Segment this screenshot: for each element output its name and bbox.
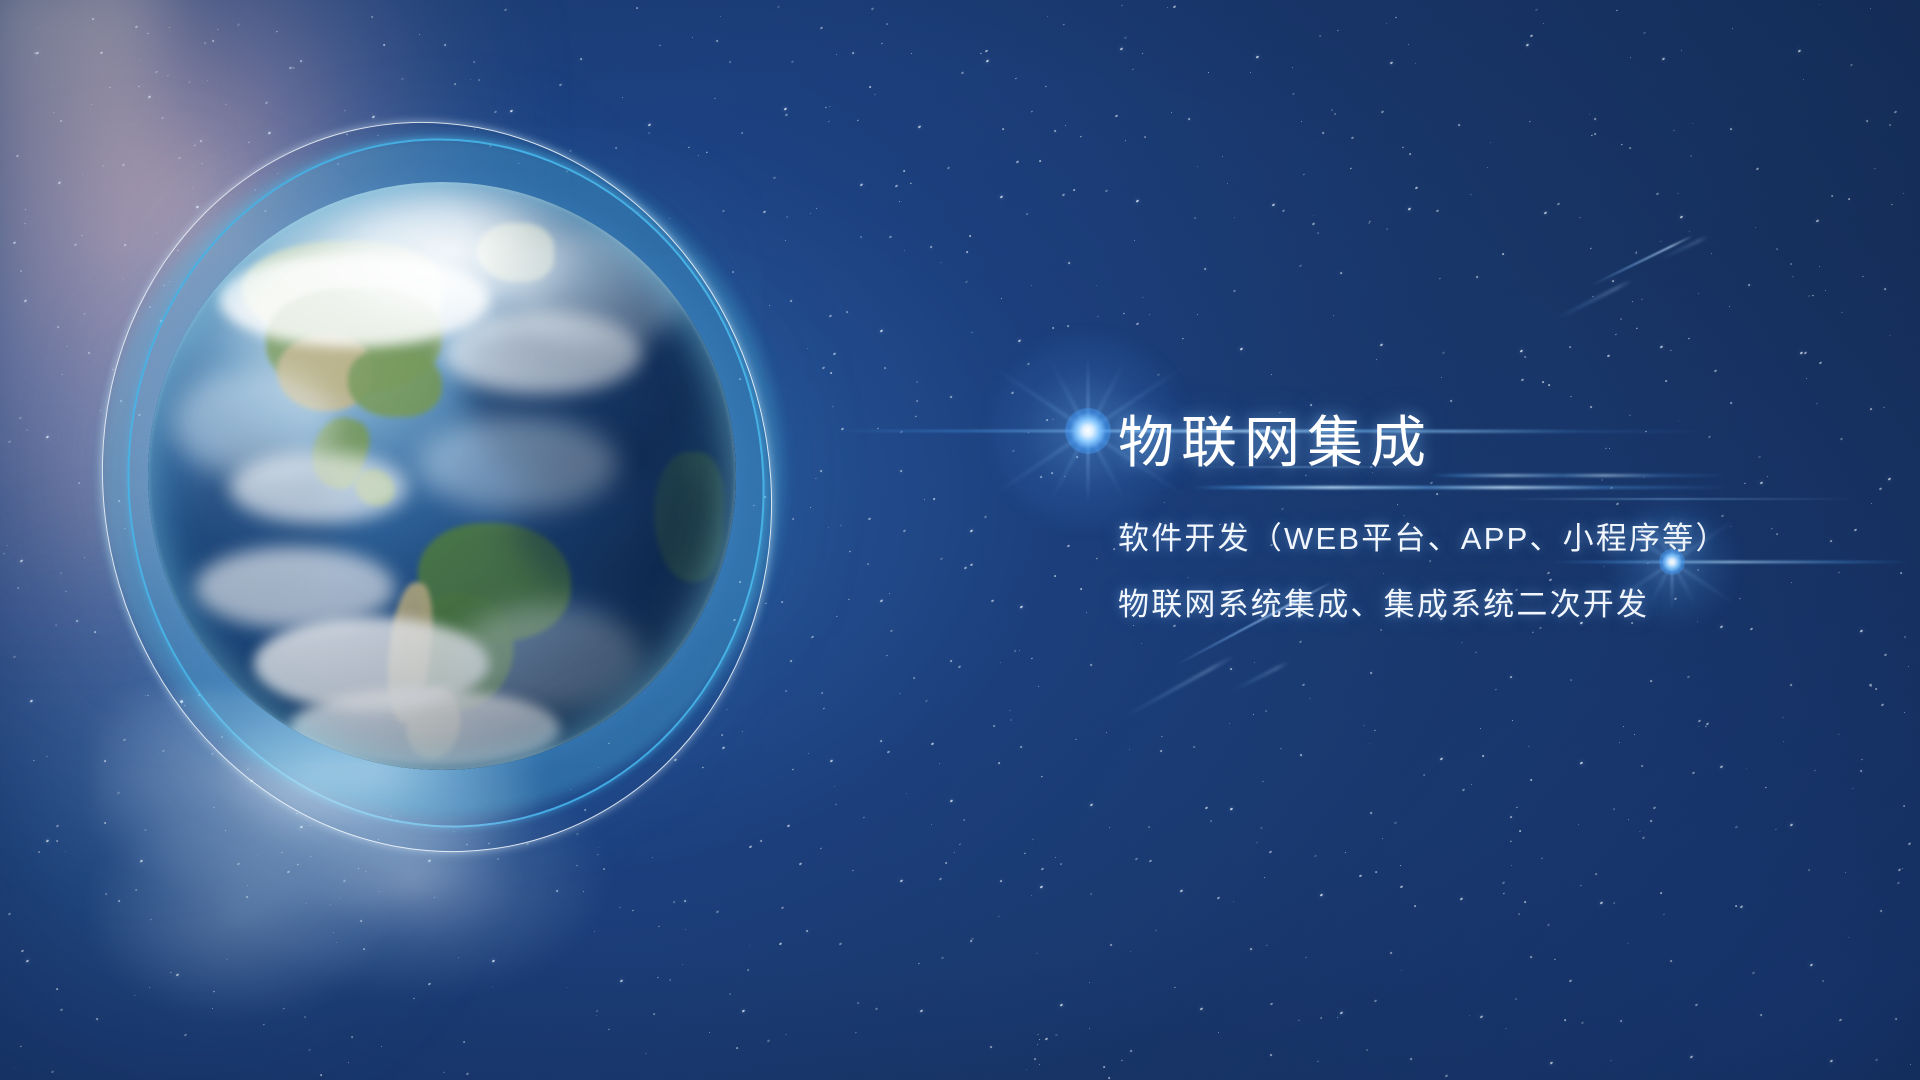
iot-integration-banner: 物联网集成 软件开发（WEB平台、APP、小程序等） 物联网系统集成、集成系统二… — [0, 0, 1920, 1080]
subtitle-line-1: 软件开发（WEB平台、APP、小程序等） — [1118, 523, 1878, 554]
subtitle-line-2: 物联网系统集成、集成系统二次开发 — [1118, 589, 1878, 620]
banner-copy: 物联网集成 软件开发（WEB平台、APP、小程序等） 物联网系统集成、集成系统二… — [1118, 412, 1878, 620]
page-title: 物联网集成 — [1118, 412, 1878, 475]
